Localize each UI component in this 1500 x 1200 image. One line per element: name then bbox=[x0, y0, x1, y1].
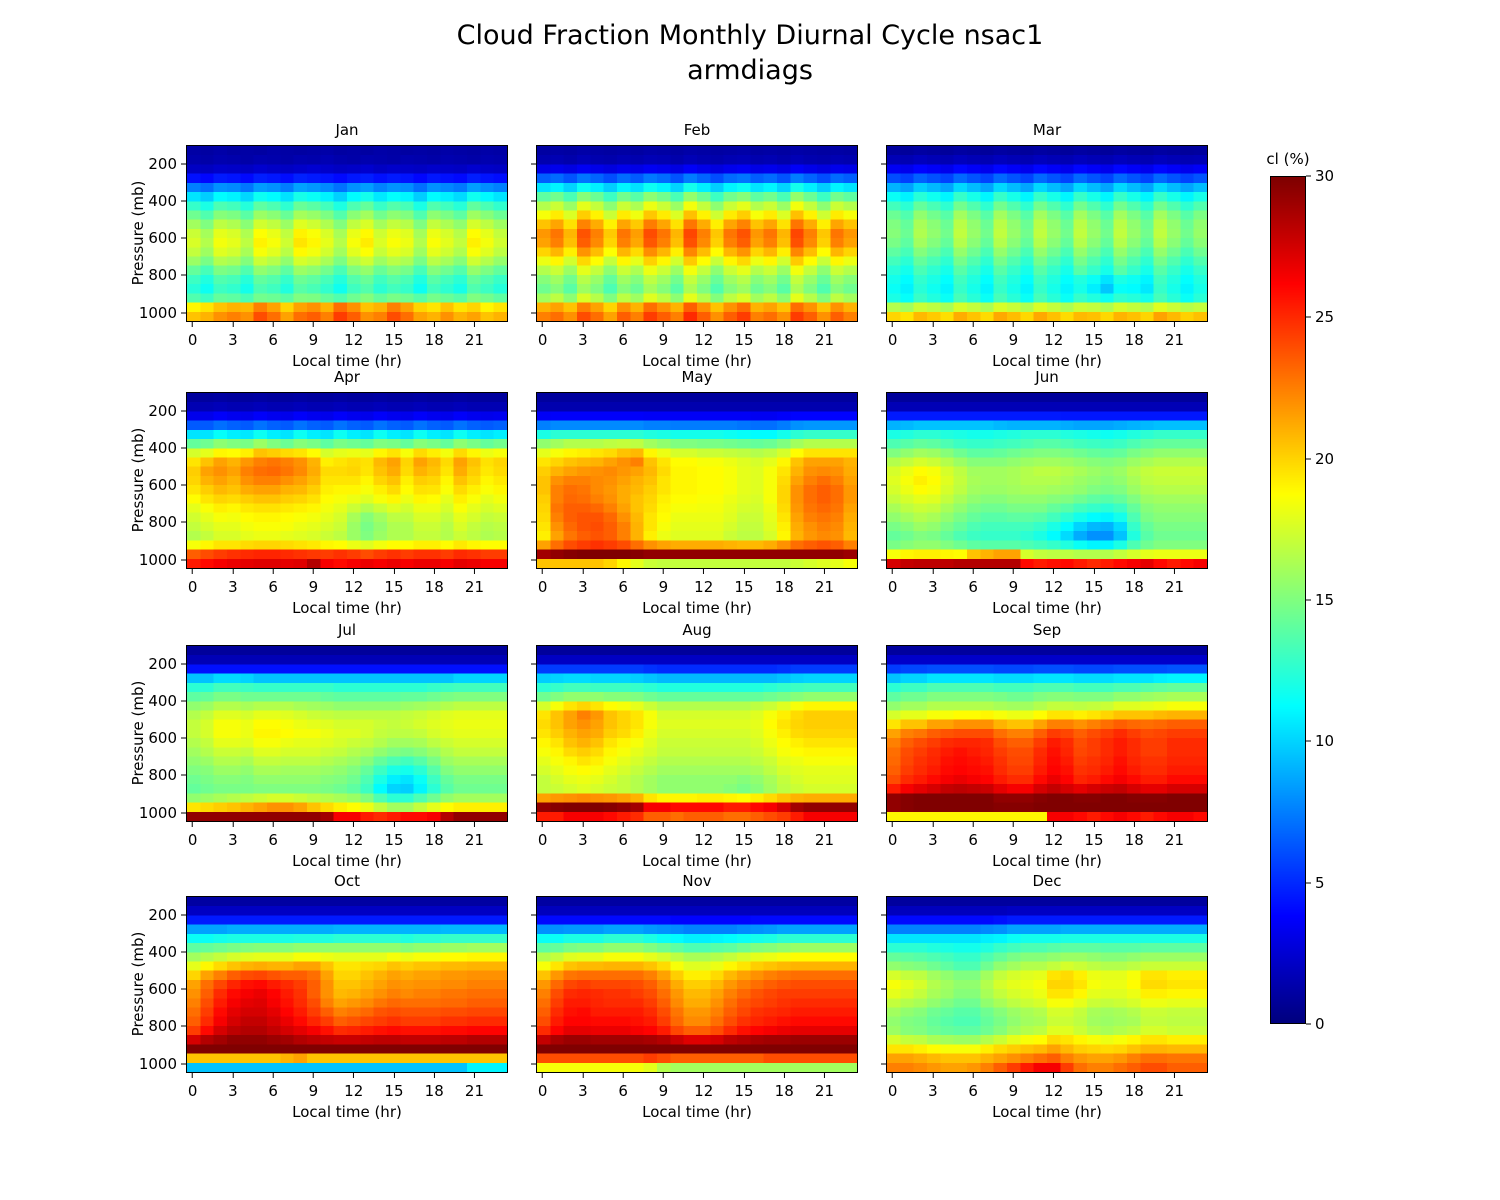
x-tick-label: 21 bbox=[465, 831, 484, 849]
colorbar-tick-label: 5 bbox=[1306, 874, 1325, 892]
x-tick-label: 12 bbox=[344, 1082, 363, 1100]
heatmap-canvas bbox=[537, 146, 857, 321]
x-axis-label: Local time (hr) bbox=[886, 1103, 1208, 1121]
x-tick-label: 15 bbox=[734, 331, 753, 349]
y-tick-label: 800 bbox=[148, 1017, 186, 1035]
heatmap-axes[interactable] bbox=[886, 145, 1208, 322]
x-tick-label: 3 bbox=[578, 578, 588, 596]
x-tick-label: 9 bbox=[1009, 578, 1019, 596]
x-tick-label: 15 bbox=[384, 831, 403, 849]
x-tick-label: 12 bbox=[694, 1082, 713, 1100]
x-tick-label: 3 bbox=[578, 831, 588, 849]
x-tick-label: 15 bbox=[1084, 1082, 1103, 1100]
y-tick-label: 400 bbox=[148, 692, 186, 710]
panel-title: Jul bbox=[186, 621, 508, 639]
y-tick-label: 1000 bbox=[139, 551, 186, 569]
x-tick-label: 15 bbox=[1084, 331, 1103, 349]
y-tick-label: 1000 bbox=[139, 1055, 186, 1073]
heatmap-canvas bbox=[187, 393, 507, 568]
x-tick-label: 0 bbox=[538, 578, 548, 596]
y-tick-label: 400 bbox=[148, 943, 186, 961]
x-tick-label: 6 bbox=[968, 331, 978, 349]
heatmap-canvas bbox=[187, 646, 507, 821]
panel-mar: Mar036912151821Local time (hr) bbox=[886, 145, 1208, 322]
panel-title: Jun bbox=[886, 368, 1208, 386]
x-tick-label: 6 bbox=[618, 1082, 628, 1100]
panel-title: Nov bbox=[536, 872, 858, 890]
colorbar-tick-label: 15 bbox=[1306, 591, 1334, 609]
x-tick-label: 6 bbox=[268, 831, 278, 849]
y-axis-label: Pressure (mb) bbox=[129, 420, 147, 540]
panel-title: May bbox=[536, 368, 858, 386]
x-tick-label: 0 bbox=[538, 331, 548, 349]
panel-title: Oct bbox=[186, 872, 508, 890]
colorbar-tick-label: 30 bbox=[1306, 167, 1334, 185]
x-tick-label: 3 bbox=[228, 1082, 238, 1100]
colorbar-label: cl (%) bbox=[1266, 150, 1309, 168]
x-tick-label: 21 bbox=[815, 831, 834, 849]
x-tick-label: 15 bbox=[384, 1082, 403, 1100]
y-tick-label: 400 bbox=[148, 439, 186, 457]
x-tick-label: 18 bbox=[425, 831, 444, 849]
x-tick-label: 9 bbox=[659, 831, 669, 849]
heatmap-canvas bbox=[187, 897, 507, 1072]
x-tick-label: 21 bbox=[815, 331, 834, 349]
x-axis-label: Local time (hr) bbox=[536, 1103, 858, 1121]
panel-nov: Nov036912151821Local time (hr) bbox=[536, 896, 858, 1073]
heatmap-axes[interactable] bbox=[536, 645, 858, 822]
heatmap-canvas bbox=[887, 393, 1207, 568]
x-tick-label: 12 bbox=[694, 578, 713, 596]
x-tick-label: 12 bbox=[344, 331, 363, 349]
panel-title: Feb bbox=[536, 121, 858, 139]
colorbar: cl (%) 051015202530 bbox=[1270, 176, 1306, 1024]
x-tick-label: 12 bbox=[1044, 1082, 1063, 1100]
x-tick-label: 18 bbox=[775, 1082, 794, 1100]
x-tick-label: 15 bbox=[734, 831, 753, 849]
y-tick-label: 600 bbox=[148, 476, 186, 494]
x-tick-label: 12 bbox=[1044, 331, 1063, 349]
heatmap-axes[interactable] bbox=[186, 145, 508, 322]
x-tick-label: 3 bbox=[228, 578, 238, 596]
x-tick-label: 3 bbox=[578, 331, 588, 349]
colorbar-tick-label: 20 bbox=[1306, 450, 1334, 468]
x-tick-label: 6 bbox=[268, 578, 278, 596]
x-tick-label: 18 bbox=[425, 578, 444, 596]
x-tick-label: 9 bbox=[309, 578, 319, 596]
x-axis-label: Local time (hr) bbox=[186, 599, 508, 617]
x-tick-label: 21 bbox=[815, 578, 834, 596]
heatmap-axes[interactable] bbox=[186, 392, 508, 569]
x-tick-label: 9 bbox=[309, 831, 319, 849]
x-tick-label: 9 bbox=[309, 331, 319, 349]
x-axis-label: Local time (hr) bbox=[186, 852, 508, 870]
x-tick-label: 9 bbox=[659, 1082, 669, 1100]
x-tick-label: 15 bbox=[734, 1082, 753, 1100]
x-tick-label: 21 bbox=[1165, 578, 1184, 596]
x-tick-label: 15 bbox=[384, 578, 403, 596]
panel-feb: Feb036912151821Local time (hr) bbox=[536, 145, 858, 322]
heatmap-axes[interactable] bbox=[886, 896, 1208, 1073]
heatmap-axes[interactable] bbox=[536, 145, 858, 322]
heatmap-axes[interactable] bbox=[536, 896, 858, 1073]
x-tick-label: 21 bbox=[815, 1082, 834, 1100]
x-tick-label: 21 bbox=[465, 331, 484, 349]
x-tick-label: 6 bbox=[268, 1082, 278, 1100]
heatmap-canvas bbox=[887, 146, 1207, 321]
panel-title: Mar bbox=[886, 121, 1208, 139]
y-tick-label: 200 bbox=[148, 155, 186, 173]
x-tick-label: 18 bbox=[775, 831, 794, 849]
panel-apr: Apr2004006008001000036912151821Local tim… bbox=[186, 392, 508, 569]
x-tick-label: 12 bbox=[344, 831, 363, 849]
x-tick-label: 18 bbox=[1125, 831, 1144, 849]
y-tick-label: 800 bbox=[148, 513, 186, 531]
x-tick-label: 18 bbox=[425, 331, 444, 349]
x-tick-label: 6 bbox=[618, 578, 628, 596]
x-tick-label: 0 bbox=[888, 1082, 898, 1100]
x-axis-label: Local time (hr) bbox=[886, 852, 1208, 870]
x-tick-label: 21 bbox=[1165, 831, 1184, 849]
heatmap-axes[interactable] bbox=[886, 392, 1208, 569]
figure-canvas: Cloud Fraction Monthly Diurnal Cycle nsa… bbox=[0, 0, 1500, 1200]
x-tick-label: 0 bbox=[538, 831, 548, 849]
x-tick-label: 6 bbox=[268, 331, 278, 349]
x-axis-label: Local time (hr) bbox=[536, 599, 858, 617]
x-tick-label: 15 bbox=[734, 578, 753, 596]
x-tick-label: 6 bbox=[618, 331, 628, 349]
y-axis-label: Pressure (mb) bbox=[129, 673, 147, 793]
x-tick-label: 18 bbox=[1125, 1082, 1144, 1100]
x-tick-label: 18 bbox=[1125, 331, 1144, 349]
colorbar-tick-label: 10 bbox=[1306, 732, 1334, 750]
heatmap-canvas bbox=[887, 646, 1207, 821]
x-tick-label: 15 bbox=[1084, 578, 1103, 596]
heatmap-canvas bbox=[187, 146, 507, 321]
x-tick-label: 3 bbox=[928, 578, 938, 596]
heatmap-axes[interactable] bbox=[536, 392, 858, 569]
x-tick-label: 12 bbox=[344, 578, 363, 596]
x-tick-label: 18 bbox=[775, 578, 794, 596]
y-tick-label: 1000 bbox=[139, 304, 186, 322]
y-tick-label: 800 bbox=[148, 766, 186, 784]
panel-jul: Jul2004006008001000036912151821Local tim… bbox=[186, 645, 508, 822]
x-tick-label: 9 bbox=[1009, 1082, 1019, 1100]
x-tick-label: 0 bbox=[188, 831, 198, 849]
x-tick-label: 18 bbox=[425, 1082, 444, 1100]
y-axis-label: Pressure (mb) bbox=[129, 924, 147, 1044]
x-tick-label: 12 bbox=[694, 331, 713, 349]
y-tick-label: 600 bbox=[148, 729, 186, 747]
y-tick-label: 200 bbox=[148, 655, 186, 673]
panel-title: Sep bbox=[886, 621, 1208, 639]
panel-oct: Oct2004006008001000036912151821Local tim… bbox=[186, 896, 508, 1073]
x-tick-label: 6 bbox=[968, 578, 978, 596]
panel-aug: Aug036912151821Local time (hr) bbox=[536, 645, 858, 822]
colorbar-tick-label: 0 bbox=[1306, 1015, 1325, 1033]
x-axis-label: Local time (hr) bbox=[536, 852, 858, 870]
x-tick-label: 15 bbox=[384, 331, 403, 349]
x-tick-label: 12 bbox=[1044, 578, 1063, 596]
x-tick-label: 0 bbox=[888, 578, 898, 596]
x-tick-label: 0 bbox=[888, 331, 898, 349]
y-tick-label: 400 bbox=[148, 192, 186, 210]
panel-title: Dec bbox=[886, 872, 1208, 890]
x-tick-label: 21 bbox=[1165, 1082, 1184, 1100]
heatmap-canvas bbox=[887, 897, 1207, 1072]
colorbar-gradient bbox=[1270, 176, 1306, 1024]
x-tick-label: 3 bbox=[228, 331, 238, 349]
x-axis-label: Local time (hr) bbox=[186, 1103, 508, 1121]
x-tick-label: 0 bbox=[888, 831, 898, 849]
panel-title: Apr bbox=[186, 368, 508, 386]
x-tick-label: 0 bbox=[188, 331, 198, 349]
heatmap-axes[interactable] bbox=[886, 645, 1208, 822]
y-tick-label: 1000 bbox=[139, 804, 186, 822]
x-tick-label: 0 bbox=[538, 1082, 548, 1100]
x-tick-label: 21 bbox=[465, 1082, 484, 1100]
panel-title: Aug bbox=[536, 621, 858, 639]
y-axis-label: Pressure (mb) bbox=[129, 173, 147, 293]
y-tick-label: 600 bbox=[148, 980, 186, 998]
x-tick-label: 9 bbox=[659, 578, 669, 596]
x-tick-label: 3 bbox=[578, 1082, 588, 1100]
panel-jun: Jun036912151821Local time (hr) bbox=[886, 392, 1208, 569]
panel-sep: Sep036912151821Local time (hr) bbox=[886, 645, 1208, 822]
x-tick-label: 3 bbox=[928, 831, 938, 849]
panel-title: Jan bbox=[186, 121, 508, 139]
x-tick-label: 9 bbox=[659, 331, 669, 349]
y-tick-label: 200 bbox=[148, 906, 186, 924]
panel-may: May036912151821Local time (hr) bbox=[536, 392, 858, 569]
y-tick-label: 200 bbox=[148, 402, 186, 420]
x-tick-label: 6 bbox=[618, 831, 628, 849]
x-tick-label: 18 bbox=[1125, 578, 1144, 596]
x-tick-label: 3 bbox=[928, 331, 938, 349]
heatmap-canvas bbox=[537, 393, 857, 568]
y-tick-label: 600 bbox=[148, 229, 186, 247]
panel-dec: Dec036912151821Local time (hr) bbox=[886, 896, 1208, 1073]
x-tick-label: 9 bbox=[309, 1082, 319, 1100]
x-tick-label: 9 bbox=[1009, 331, 1019, 349]
x-tick-label: 12 bbox=[694, 831, 713, 849]
x-tick-label: 3 bbox=[928, 1082, 938, 1100]
x-tick-label: 0 bbox=[188, 578, 198, 596]
y-tick-label: 800 bbox=[148, 266, 186, 284]
figure-title: Cloud Fraction Monthly Diurnal Cycle nsa… bbox=[0, 18, 1500, 88]
x-tick-label: 0 bbox=[188, 1082, 198, 1100]
x-axis-label: Local time (hr) bbox=[886, 599, 1208, 617]
panel-jan: Jan2004006008001000036912151821Local tim… bbox=[186, 145, 508, 322]
heatmap-canvas bbox=[537, 897, 857, 1072]
colorbar-tick-label: 25 bbox=[1306, 308, 1334, 326]
x-tick-label: 21 bbox=[1165, 331, 1184, 349]
x-tick-label: 12 bbox=[1044, 831, 1063, 849]
colorbar-canvas bbox=[1271, 177, 1305, 1023]
x-tick-label: 9 bbox=[1009, 831, 1019, 849]
heatmap-axes[interactable] bbox=[186, 645, 508, 822]
x-tick-label: 18 bbox=[775, 331, 794, 349]
heatmap-axes[interactable] bbox=[186, 896, 508, 1073]
x-tick-label: 15 bbox=[1084, 831, 1103, 849]
x-tick-label: 3 bbox=[228, 831, 238, 849]
x-tick-label: 6 bbox=[968, 831, 978, 849]
x-tick-label: 6 bbox=[968, 1082, 978, 1100]
heatmap-canvas bbox=[537, 646, 857, 821]
x-tick-label: 21 bbox=[465, 578, 484, 596]
